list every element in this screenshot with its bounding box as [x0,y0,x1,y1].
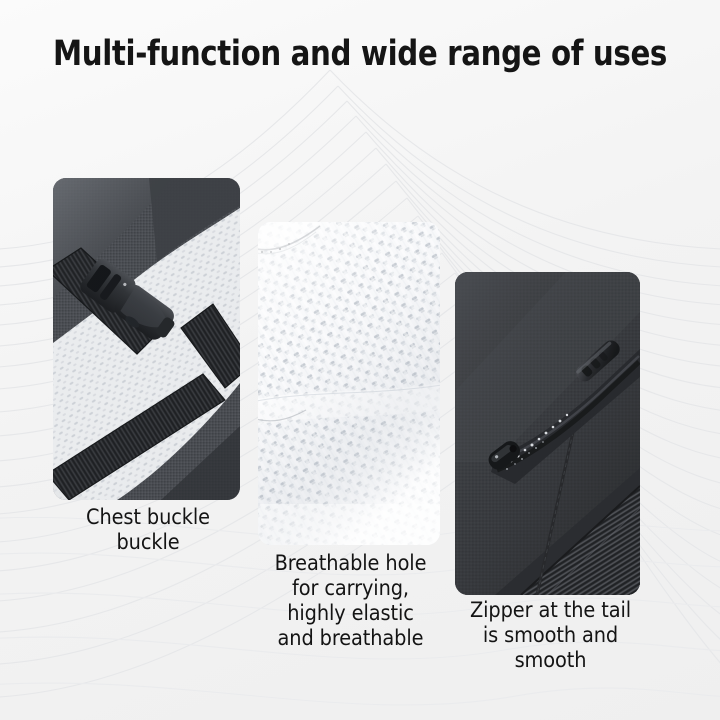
feature-photo-breathable-hole [258,222,440,545]
page-title: Multi-function and wide range of uses [25,34,695,74]
caption-breathable-hole: Breathable hole for carrying, highly ela… [248,551,453,652]
caption-chest-buckle: Chest buckle buckle [48,505,248,555]
feature-photo-tail-zipper [455,272,640,595]
caption-tail-zipper: Zipper at the tail is smooth and smooth [448,598,653,673]
product-feature-poster: Multi-function and wide range of uses [0,0,720,720]
feature-photo-chest-buckle [53,178,240,500]
